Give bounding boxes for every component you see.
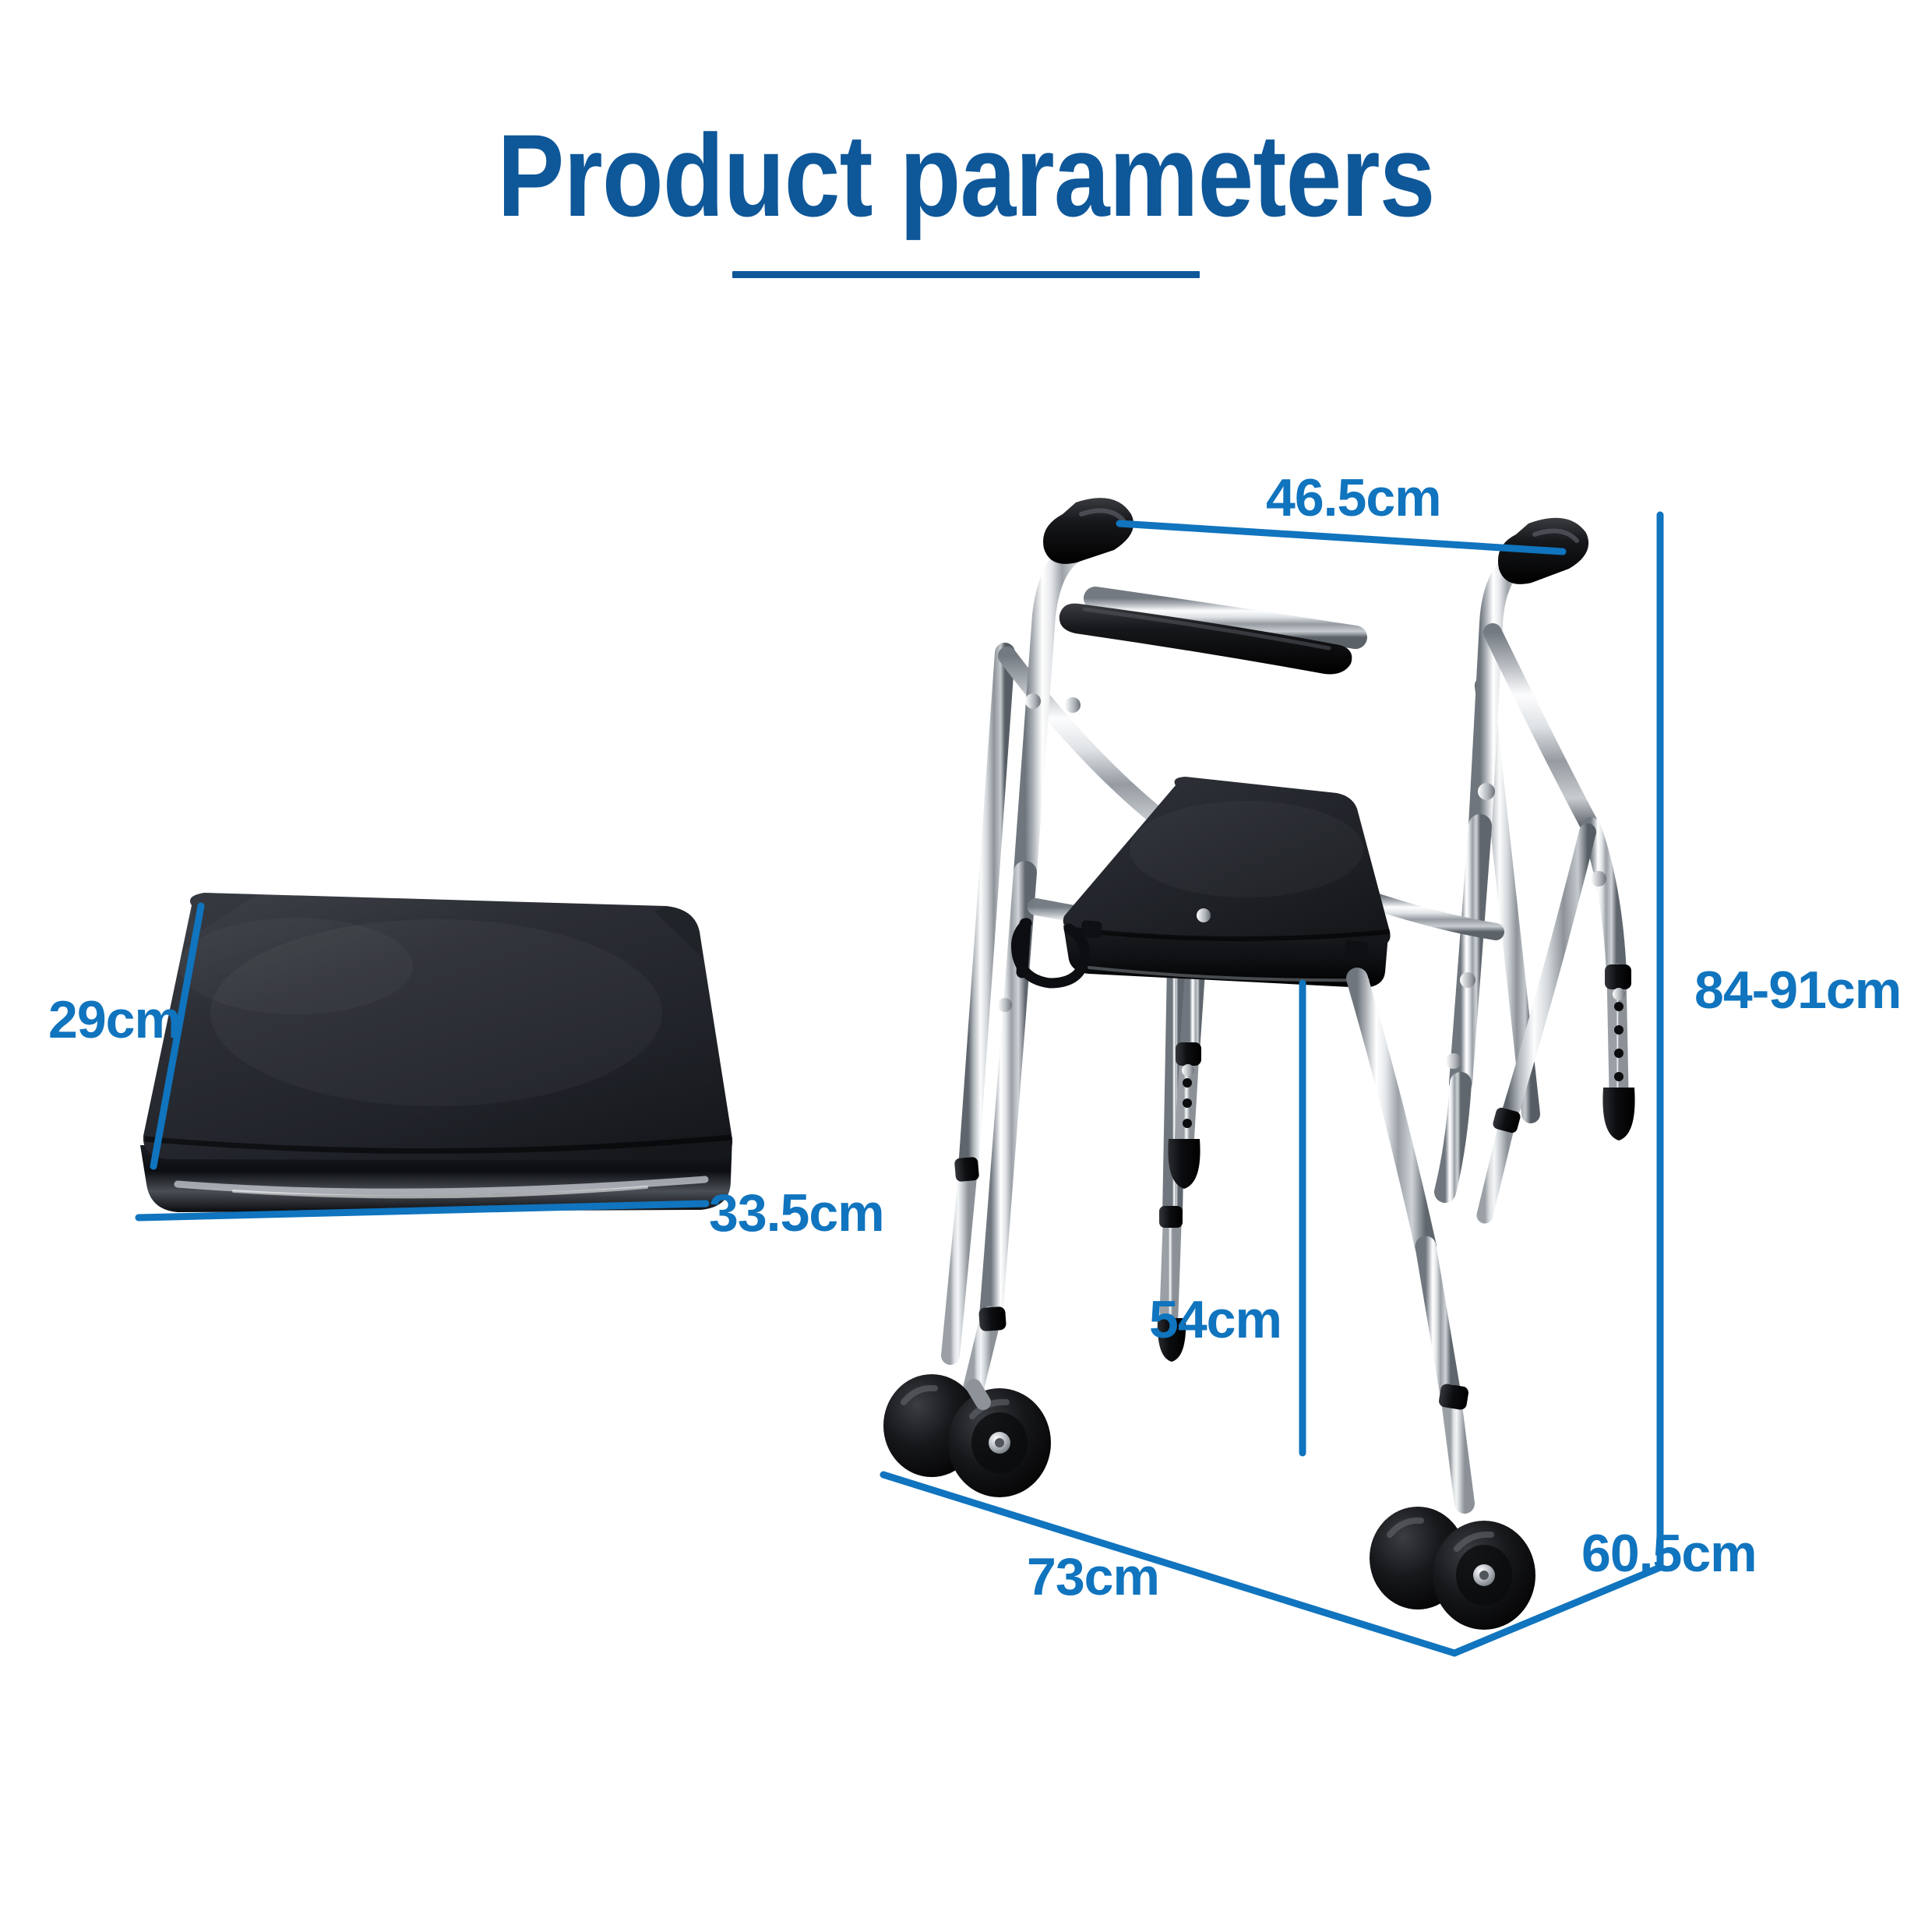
dimension-label-seat-height: 54cm — [1149, 1289, 1282, 1350]
rear-wheel-assembly — [883, 1374, 1051, 1497]
product-illustration — [0, 0, 1932, 1932]
walker-seat-cushion — [1063, 777, 1391, 988]
dimension-label-cushion-depth: 29cm — [48, 989, 181, 1050]
leg-collar — [954, 1157, 980, 1183]
dimension-label-handle-width: 46.5cm — [1266, 467, 1441, 528]
dimension-label-overall-depth: 60.5cm — [1581, 1523, 1757, 1584]
product-parameters-page: Product parameters — [0, 0, 1932, 1932]
dimension-label-cushion-width: 33.5cm — [709, 1183, 884, 1243]
dimension-label-overall-length: 73cm — [1027, 1546, 1159, 1607]
left-handle-grip — [1043, 498, 1133, 564]
front-wheel-assembly — [1370, 1507, 1535, 1630]
seat-cushion-photo — [140, 893, 732, 1212]
walker-photo — [883, 498, 1635, 1630]
dimension-label-overall-height: 84-91cm — [1694, 960, 1901, 1021]
dim-line-73cm — [883, 1475, 1454, 1653]
